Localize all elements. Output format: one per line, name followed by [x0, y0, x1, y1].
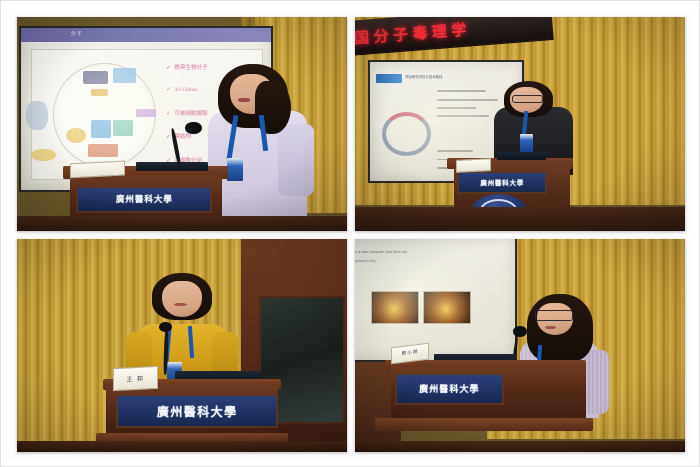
slide-tag-label: 项目研究内容与技术路线	[405, 74, 442, 79]
scene-top-right: 国分子毒理学 项目研究内容与技术路线	[355, 17, 685, 231]
photo-grid: 分子 ✓ 携带生物分子	[9, 9, 693, 460]
microphone-head	[513, 326, 526, 337]
diagram-element	[113, 120, 133, 136]
photo-collage: 分子 ✓ 携带生物分子	[0, 0, 700, 467]
photo-bottom-right[interactable]: tissue Golden is also computer, and ther…	[355, 239, 685, 453]
photo-top-left[interactable]: 分子 ✓ 携带生物分子	[17, 17, 347, 231]
slide-text-line	[437, 107, 476, 109]
photo-top-right[interactable]: 国分子毒理学 项目研究内容与技术路线	[355, 17, 685, 231]
slide-text-line: Golden is also computer, and there are	[355, 250, 407, 254]
scene-top-left: 分子 ✓ 携带生物分子	[17, 17, 347, 231]
slide-thumbnail	[371, 291, 419, 324]
slide-title-bar	[21, 28, 272, 43]
name-card-text: 王 邦	[126, 373, 144, 383]
podium-plaque: 廣州醫科大學	[457, 171, 547, 194]
floor	[355, 441, 685, 452]
laptop	[497, 152, 547, 161]
podium-plaque: 廣州醫科大學	[76, 186, 212, 213]
floor	[17, 216, 347, 231]
speaker-glasses	[535, 310, 573, 321]
scene-bottom-left: 廣州醫科大學 王 邦	[17, 239, 347, 453]
slide-title: 分子	[71, 30, 83, 37]
podium-name-card	[456, 158, 491, 173]
speaker-glasses	[512, 95, 544, 103]
podium-plaque-text: 廣州醫科大學	[157, 403, 238, 420]
diagram-element	[66, 128, 86, 143]
photo-bottom-left[interactable]: 廣州醫科大學 王 邦	[17, 239, 347, 453]
diagram-element	[26, 101, 49, 130]
diagram-element	[91, 89, 109, 95]
diagram-element	[83, 71, 108, 84]
podium-plaque-text: 廣州醫科大學	[480, 177, 524, 187]
podium-plaque: 廣州醫科大學	[395, 373, 505, 405]
scene-bottom-right: tissue Golden is also computer, and ther…	[355, 239, 685, 453]
diagram-element	[31, 149, 56, 160]
diagram-element	[113, 68, 136, 83]
diagram-element	[88, 144, 118, 157]
speaker-mouth	[238, 98, 250, 101]
slide-donut-chart	[382, 112, 431, 156]
name-card-text: 黄小婷	[402, 350, 419, 358]
podium-plaque-text: 廣州醫科大學	[116, 193, 173, 205]
microphone-head	[185, 122, 202, 135]
slide-tag-chip	[376, 74, 402, 84]
laptop	[136, 162, 209, 171]
slide-text-line	[437, 150, 473, 152]
speaker-badge	[227, 158, 244, 181]
slide-text-line	[437, 115, 489, 117]
floor	[17, 441, 347, 452]
podium-base	[375, 418, 593, 431]
diagram-element	[136, 109, 156, 117]
slide-text-line	[437, 99, 498, 101]
floor	[355, 207, 685, 230]
speaker-badge	[520, 134, 533, 151]
slide-text-line	[437, 90, 486, 92]
speaker-arm	[278, 124, 314, 197]
conference-banner-text: 国分子毒理学	[355, 18, 472, 48]
diagram-element	[91, 120, 111, 138]
podium-plaque: 廣州醫科大學	[116, 394, 278, 428]
projection-screen: tissue Golden is also computer, and ther…	[355, 239, 517, 363]
podium-name-card[interactable]: 王 邦	[113, 365, 158, 391]
podium-name-card	[70, 161, 125, 179]
podium-plaque-text: 廣州醫科大學	[419, 382, 479, 395]
slide-text-line: are exposed to 50x.	[355, 259, 377, 263]
slide-thumbnail	[423, 291, 471, 324]
